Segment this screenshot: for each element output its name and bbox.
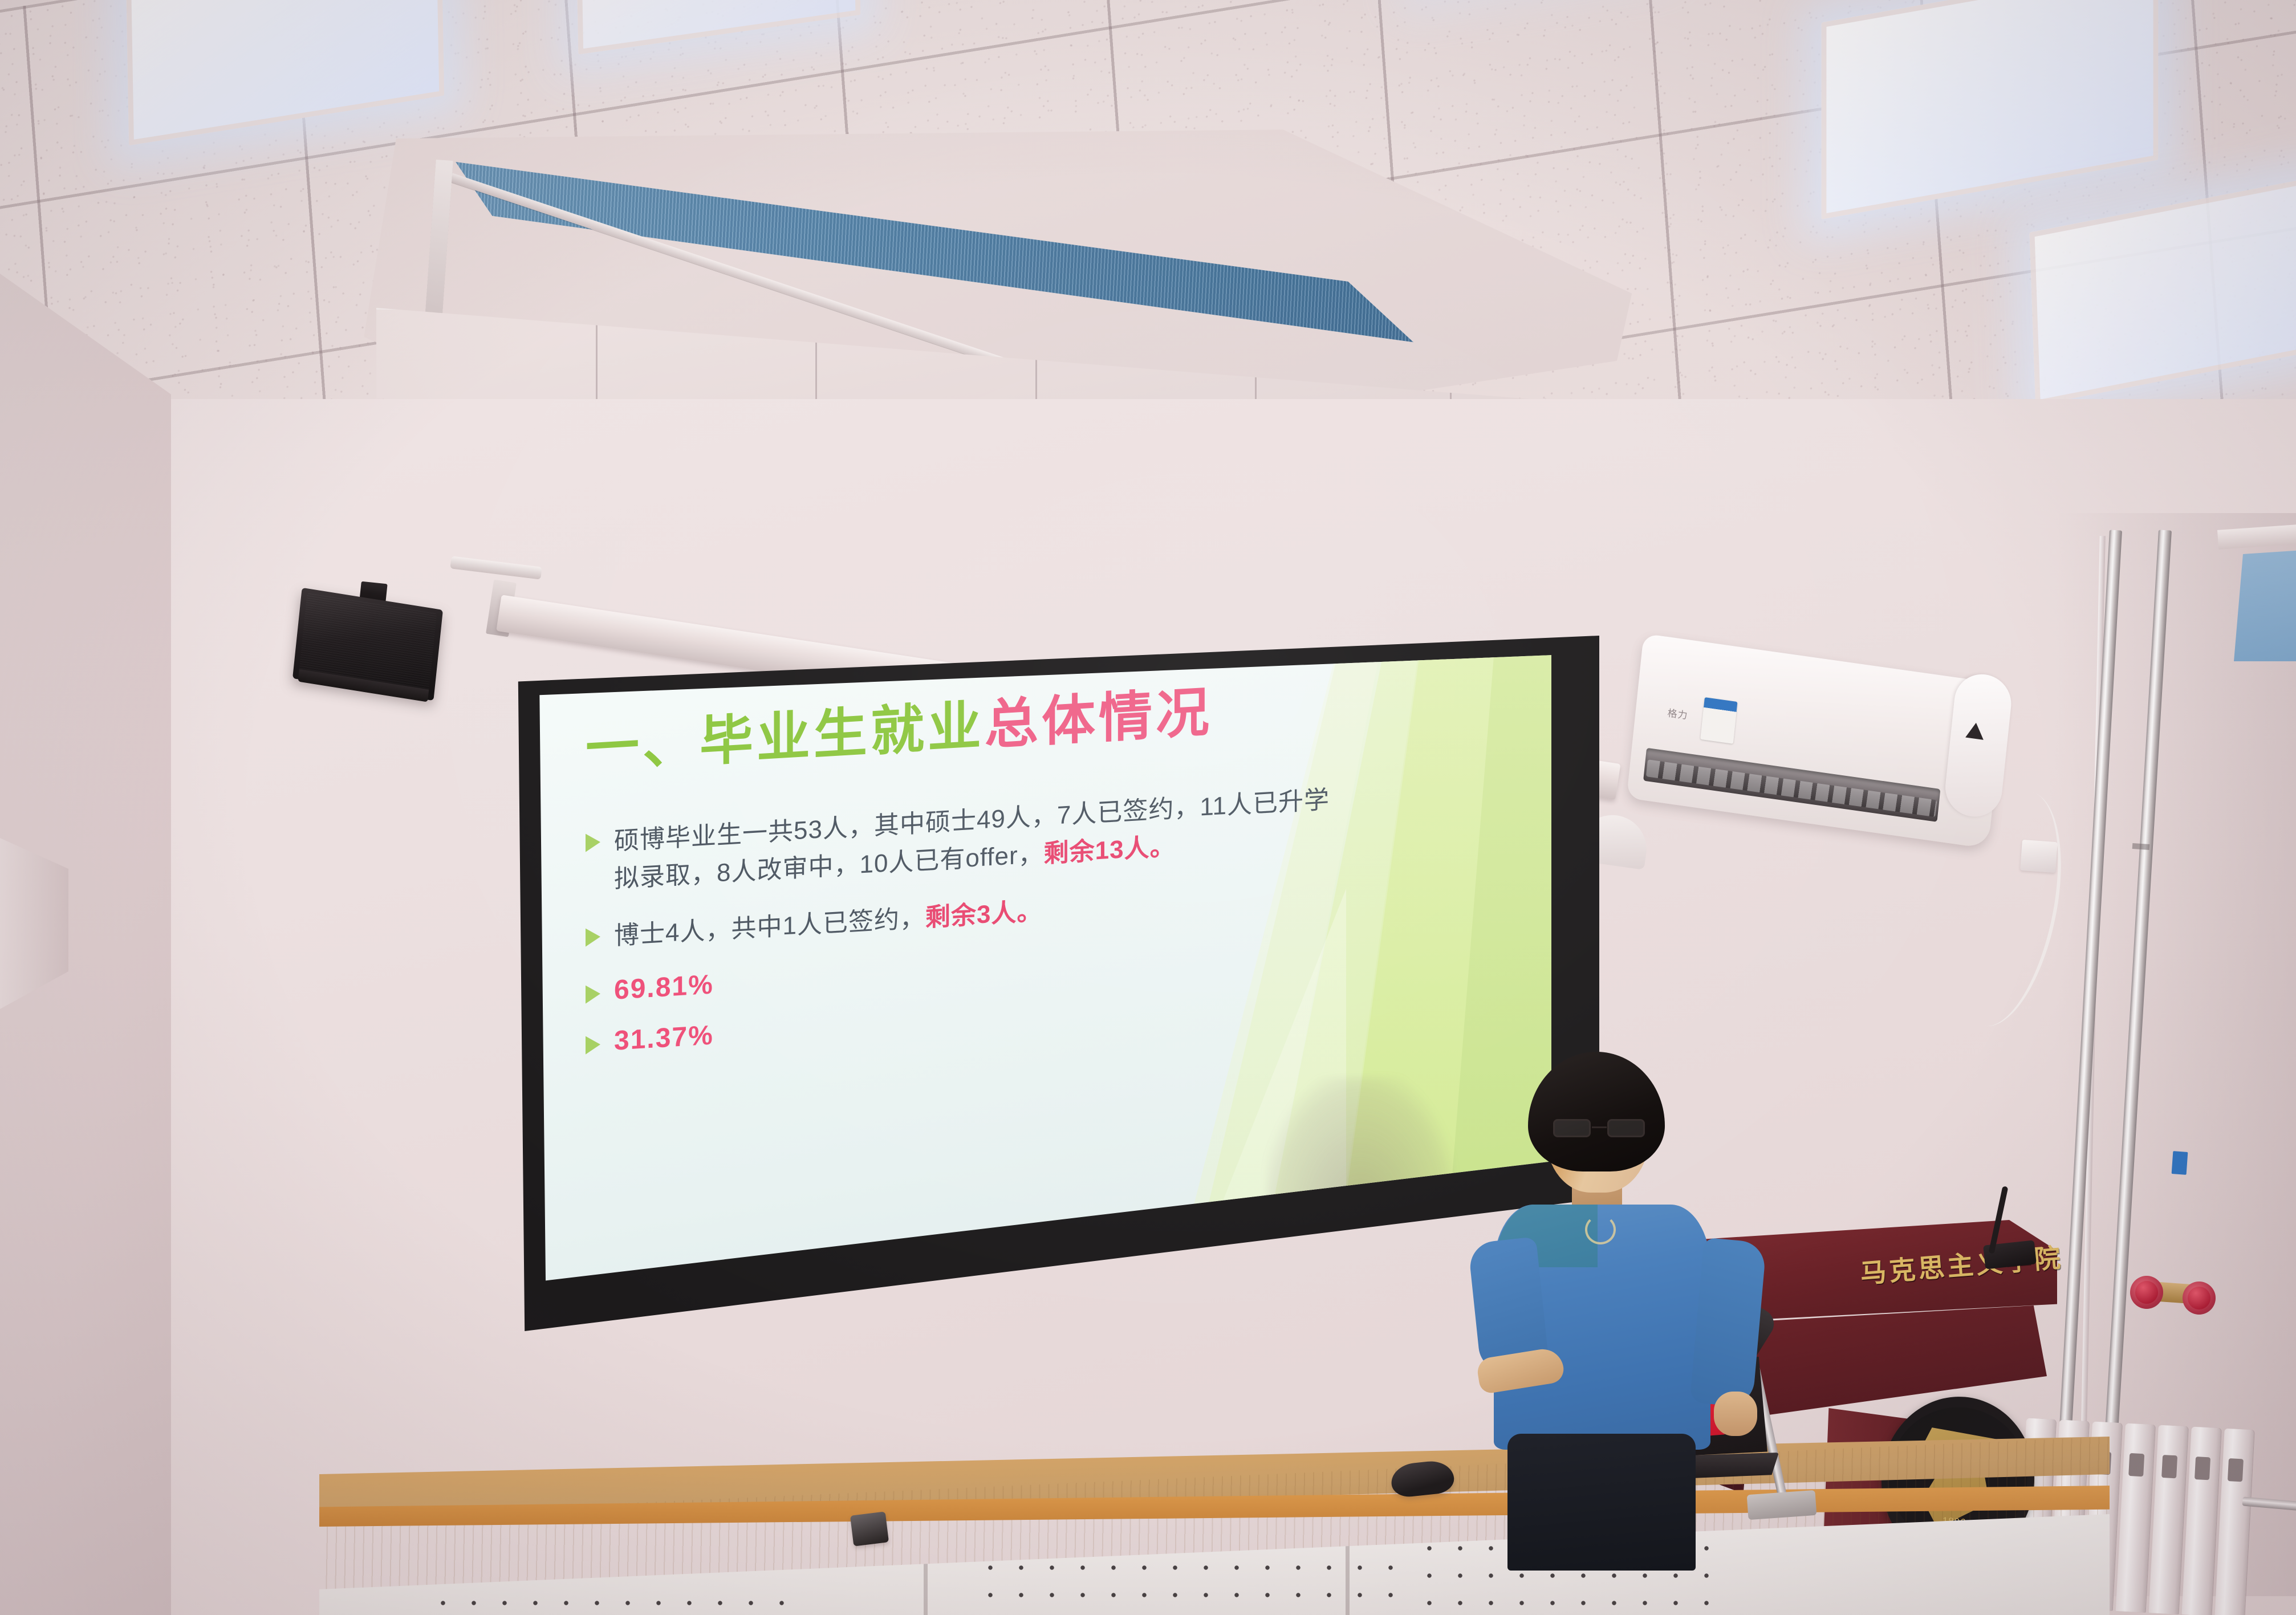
slide-title-pink-part: 总体情况 <box>985 682 1213 755</box>
percentage-value: 31.37% <box>614 1019 714 1056</box>
pipe-band <box>2132 843 2150 850</box>
radiator-fin <box>2149 1425 2188 1614</box>
presenter-hair <box>1528 1052 1665 1171</box>
presenter-trousers <box>1507 1434 1696 1571</box>
glasses-left-lens <box>1553 1119 1591 1137</box>
radiator-cap <box>2228 1458 2244 1482</box>
projection-screen-assembly: 幻影 投影幕布 一、毕业生就业总体情况 硕博毕业生一共53人，其中硕士49人，7… <box>516 636 1599 1331</box>
glasses-icon <box>1552 1119 1646 1138</box>
ac-energy-label <box>1700 697 1737 744</box>
triangle-bullet-icon <box>586 927 600 947</box>
bullet-text: 博士4人，共中1人已签约，剩余3人。 <box>614 892 1042 955</box>
radiator-cap <box>2161 1455 2177 1478</box>
triangle-bullet-icon <box>586 985 600 1004</box>
bullet-text: 硕博毕业生一共53人，其中硕士49人，7人已签约，11人已升学拟录取，8人改审中… <box>614 780 1344 898</box>
bullet-highlight-text: 剩余13人。 <box>1044 832 1176 868</box>
bullet-plain-text: 博士4人，共中1人已签约， <box>614 904 925 950</box>
radiator-pipe <box>2242 1496 2296 1511</box>
presenter-right-hand <box>1714 1392 1757 1436</box>
glasses-right-lens <box>1607 1119 1645 1137</box>
radiator-fin <box>2214 1429 2254 1615</box>
bullet-highlight-text: 剩余3人。 <box>925 897 1042 931</box>
ac-brand-text: 格力 <box>1667 705 1689 722</box>
desk-perforated-panel <box>975 1554 1408 1615</box>
blue-window-blind <box>2234 547 2296 661</box>
lecture-desk <box>319 1437 2110 1615</box>
classroom-photo-scene: 格力 幻影 投影幕布 一、毕业生就业总体情况 <box>0 0 2296 1615</box>
pipe-valve-handle[interactable] <box>2183 1282 2216 1315</box>
radiator-fin <box>2182 1427 2221 1615</box>
slide-title-green-part: 一、毕业生就业 <box>586 695 985 779</box>
radiator-fin <box>2116 1423 2155 1613</box>
triangle-bullet-icon <box>586 833 600 852</box>
pipe-tag <box>2172 1151 2188 1175</box>
remote-control-device[interactable] <box>850 1511 889 1546</box>
desk-perforated-panel <box>428 1589 793 1615</box>
warning-triangle-icon <box>1965 722 1985 740</box>
pipe-valve-handle[interactable] <box>2130 1276 2163 1309</box>
radiator-cap <box>2128 1453 2144 1476</box>
bullet-plain-text: 硕博毕业生一共53人，其中硕士49人，7人已签约，11人已升学拟录取，8人改审中… <box>614 786 1330 893</box>
triangle-bullet-icon <box>586 1035 600 1055</box>
microphone-base <box>1747 1490 1817 1520</box>
glasses-bridge <box>1592 1126 1607 1128</box>
radiator-cap <box>2195 1457 2210 1480</box>
slide-bullet-list: 硕博毕业生一共53人，其中硕士49人，7人已签约，11人已升学拟录取，8人改审中… <box>586 772 1475 1058</box>
presenter-necklace <box>1585 1215 1616 1244</box>
percentage-value: 69.81% <box>614 969 714 1006</box>
